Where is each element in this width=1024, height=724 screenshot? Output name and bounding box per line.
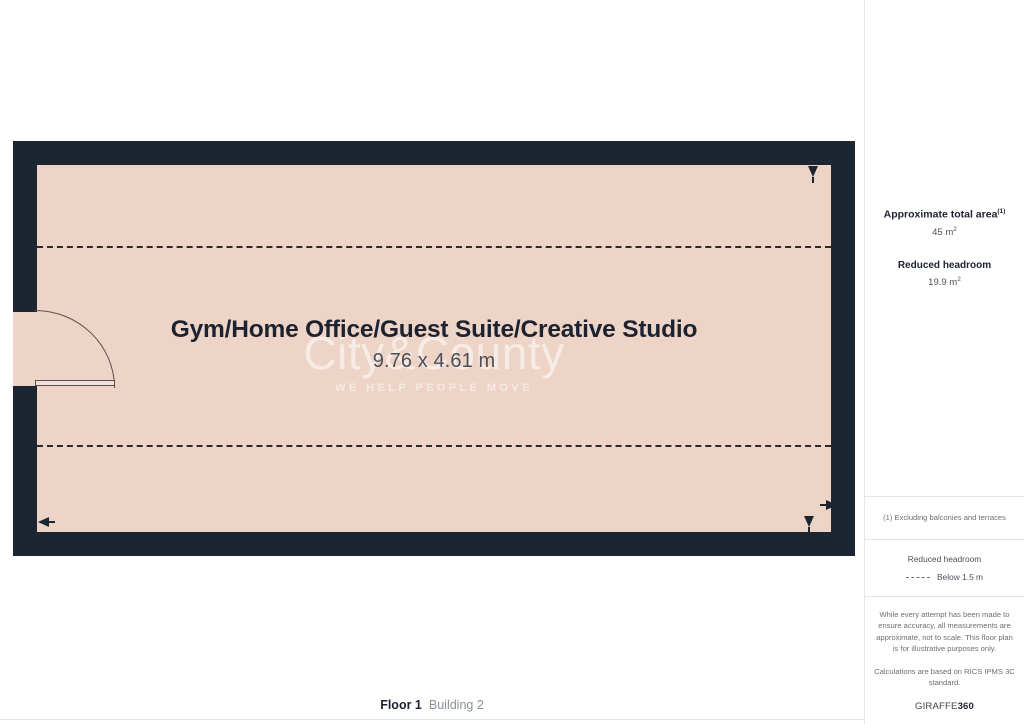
footnote-section: (1) Excluding balconies and terraces [865,497,1024,540]
reduced-headroom-line-top [37,246,831,248]
footer-divider [0,719,864,720]
legend-row: Below 1.5 m [906,572,983,582]
dimension-arrow-bottom-left-icon [38,517,49,527]
door-leaf [35,380,115,386]
area-value-number: 45 m [932,227,953,238]
headroom-value-number: 19.9 m [928,277,957,288]
approximate-total-area-value: 45 m2 [874,226,1015,238]
dimension-tick-bottom-left [49,521,55,523]
disclaimer-section: While every attempt has been made to ens… [865,597,1024,712]
dimension-tick-top-right [812,177,814,183]
legend-section: Reduced headroom Below 1.5 m [865,540,1024,597]
disclaimer-text: While every attempt has been made to ens… [874,609,1015,655]
legend-title: Reduced headroom [908,554,982,564]
room-label: Gym/Home Office/Guest Suite/Creative Stu… [37,316,831,373]
footer-building-label[interactable]: Building 2 [429,698,484,712]
plan-footer: Floor 1Building 2 [0,698,864,712]
giraffe360-brand: GIRAFFE360 [874,701,1015,712]
standard-text: Calculations are based on RICS IPMS 3C s… [874,666,1015,689]
room-name: Gym/Home Office/Guest Suite/Creative Stu… [37,316,831,345]
dimension-tick-bottom [808,527,810,533]
floor-plan-canvas[interactable]: City&County WE HELP PEOPLE MOVE Gym/Home… [0,0,864,724]
area-title-footnote-marker: (1) [997,208,1005,215]
footnote-text: (1) Excluding balconies and terraces [883,513,1006,523]
brand-suffix: 360 [958,701,974,712]
headroom-value-unit-exponent: 2 [957,276,961,283]
floor-plan-page: City&County WE HELP PEOPLE MOVE Gym/Home… [0,0,1024,724]
area-value-unit-exponent: 2 [953,226,957,233]
area-summary-section: Approximate total area(1) 45 m2 Reduced … [865,0,1024,497]
dimension-tick-bottom-right [820,504,826,506]
area-title-text: Approximate total area [884,209,998,221]
dimension-arrow-bottom-right-icon [826,500,837,510]
legend-item-label: Below 1.5 m [937,572,983,582]
dimension-arrow-bottom-down-icon [804,516,814,527]
dimension-arrow-top-right-down-icon [808,166,818,177]
info-panel: Approximate total area(1) 45 m2 Reduced … [864,0,1024,724]
door-opening [13,312,37,386]
dashed-line-icon [906,577,930,578]
brand-prefix: GIRAFFE [915,701,958,712]
footer-floor-label[interactable]: Floor 1 [380,698,422,712]
room-dimensions: 9.76 x 4.61 m [37,350,831,373]
reduced-headroom-title: Reduced headroom [874,260,1015,271]
reduced-headroom-value: 19.9 m2 [874,276,1015,288]
reduced-headroom-line-bottom [37,445,831,447]
approximate-total-area-title: Approximate total area(1) [874,208,1015,221]
